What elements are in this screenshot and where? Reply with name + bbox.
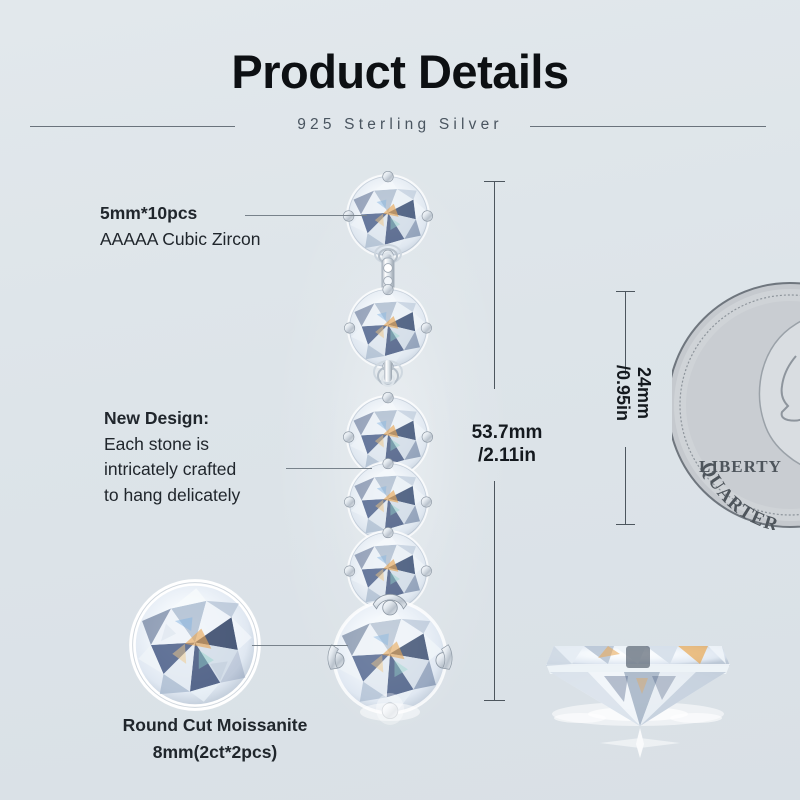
- annotation-middle-line4: to hang delicately: [104, 483, 240, 509]
- annotation-top-line2: AAAAA Cubic Zircon: [100, 226, 260, 252]
- coin-top-text: UNITED STATES: [0, 0, 7, 4]
- annotation-middle-line3: intricately crafted: [104, 457, 240, 483]
- dimension-coin-metric: 24mm: [633, 343, 654, 443]
- product-detail-canvas: Product Details 925 Sterling Silver: [0, 0, 800, 800]
- dimension-earring-imperial: /2.11in: [452, 444, 562, 467]
- dimension-line-earring-lower: [494, 481, 495, 700]
- dimension-label-earring: 53.7mm /2.11in: [452, 421, 562, 467]
- dimension-cap-earring-bottom: [484, 700, 505, 701]
- leader-line-bottom: [252, 645, 348, 646]
- dimension-coin-imperial: /0.95in: [612, 343, 633, 443]
- magnified-stone-circle: [132, 582, 258, 708]
- svg-text:UNITED STATES: UNITED STATES: [0, 0, 7, 4]
- side-view-diamond: [546, 646, 730, 758]
- leader-line-top: [245, 215, 367, 216]
- coin-liberty-text: LIBERTY: [699, 457, 782, 476]
- annotation-top-line1: 5mm*10pcs: [100, 200, 260, 226]
- dimension-cap-coin-top: [616, 291, 635, 292]
- dimension-cap-coin-bottom: [616, 524, 635, 525]
- earring-illustration: UNITED STATES QUARTER LIBERTY: [0, 0, 800, 800]
- annotation-middle-line1: New Design:: [104, 406, 240, 432]
- dimension-cap-earring-top: [484, 181, 505, 182]
- dimension-line-coin-lower: [625, 447, 626, 525]
- annotation-middle-line2: Each stone is: [104, 432, 240, 458]
- annotation-top: 5mm*10pcs AAAAA Cubic Zircon: [100, 200, 260, 252]
- annotation-bottom: Round Cut Moissanite 8mm(2ct*2pcs): [100, 712, 330, 766]
- annotation-middle: New Design: Each stone is intricately cr…: [104, 406, 240, 508]
- annotation-bottom-line1: Round Cut Moissanite: [100, 712, 330, 739]
- dimension-label-coin: 24mm /0.95in: [612, 343, 654, 443]
- annotation-bottom-line2: 8mm(2ct*2pcs): [100, 739, 330, 766]
- leader-line-middle: [286, 468, 372, 469]
- dimension-earring-metric: 53.7mm: [452, 421, 562, 444]
- dimension-line-earring-upper: [494, 181, 495, 389]
